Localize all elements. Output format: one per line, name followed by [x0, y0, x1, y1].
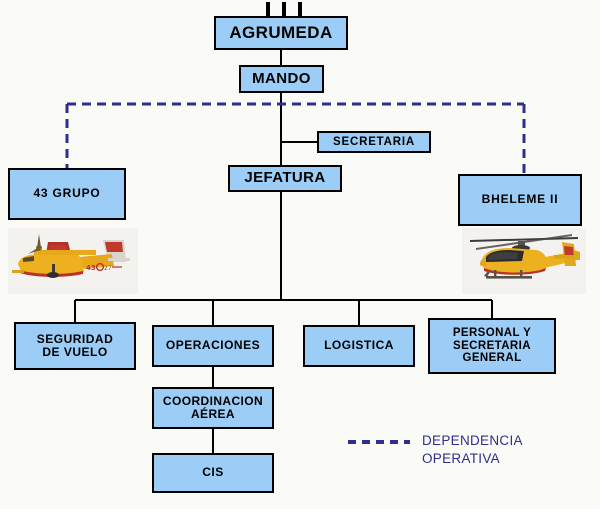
- dashed-dependency-line: [67, 104, 524, 174]
- legend-label: DEPENDENCIA OPERATIVA: [422, 432, 523, 468]
- legend-dashed-line-sample: [348, 440, 410, 444]
- node-agrumeda[interactable]: AGRUMEDA: [214, 16, 348, 50]
- svg-text:43: 43: [86, 264, 96, 272]
- node-personal-y-secretaria-general[interactable]: PERSONAL Y SECRETARIA GENERAL: [428, 318, 556, 374]
- node-mando[interactable]: MANDO: [239, 65, 324, 93]
- node-cis-label: CIS: [199, 466, 227, 479]
- node-coordinacion-aerea[interactable]: COORDINACION AÉREA: [152, 387, 274, 429]
- legend-label-line-2: OPERATIVA: [422, 450, 523, 468]
- node-seguridad-de-vuelo-label: SEGURIDAD DE VUELO: [31, 333, 120, 360]
- label-line-2: DE VUELO: [34, 346, 117, 359]
- org-chart: AGRUMEDA MANDO SECRETARIA JEFATURA 43 GR…: [0, 0, 600, 509]
- node-logistica-label: LOGISTICA: [321, 339, 397, 352]
- label-line-3: GENERAL: [450, 352, 534, 365]
- label-line-2: SECRETARIA: [450, 340, 534, 353]
- node-agrumeda-label: AGRUMEDA: [226, 23, 335, 42]
- node-seguridad-de-vuelo[interactable]: SEGURIDAD DE VUELO: [14, 322, 136, 370]
- node-jefatura[interactable]: JEFATURA: [228, 165, 342, 192]
- node-43-grupo-label: 43 GRUPO: [30, 187, 103, 200]
- node-cis[interactable]: CIS: [152, 453, 274, 493]
- node-bheleme-ii-label: BHELEME II: [479, 193, 562, 206]
- node-mando-label: MANDO: [249, 71, 314, 88]
- node-coordinacion-aerea-label: COORDINACION AÉREA: [157, 395, 269, 422]
- legend-label-line-1: DEPENDENCIA: [422, 432, 523, 450]
- label-line-1: PERSONAL Y: [450, 327, 534, 340]
- node-43-grupo[interactable]: 43 GRUPO: [8, 168, 126, 220]
- node-jefatura-label: JEFATURA: [241, 170, 328, 187]
- node-operaciones-label: OPERACIONES: [163, 339, 263, 352]
- label-line-1: COORDINACION: [160, 395, 266, 408]
- water-bomber-aircraft-image: 43 27: [8, 228, 138, 294]
- label-line-2: AÉREA: [160, 408, 266, 421]
- node-bheleme-ii[interactable]: BHELEME II: [458, 174, 582, 226]
- rescue-helicopter-image: [462, 228, 586, 294]
- legend: DEPENDENCIA OPERATIVA: [348, 432, 523, 468]
- node-personal-label: PERSONAL Y SECRETARIA GENERAL: [447, 327, 537, 366]
- label-line-1: SEGURIDAD: [34, 333, 117, 346]
- node-secretaria[interactable]: SECRETARIA: [317, 131, 431, 153]
- node-operaciones[interactable]: OPERACIONES: [152, 325, 274, 367]
- svg-text:27: 27: [104, 265, 112, 272]
- node-logistica[interactable]: LOGISTICA: [303, 325, 415, 367]
- node-secretaria-label: SECRETARIA: [330, 136, 418, 149]
